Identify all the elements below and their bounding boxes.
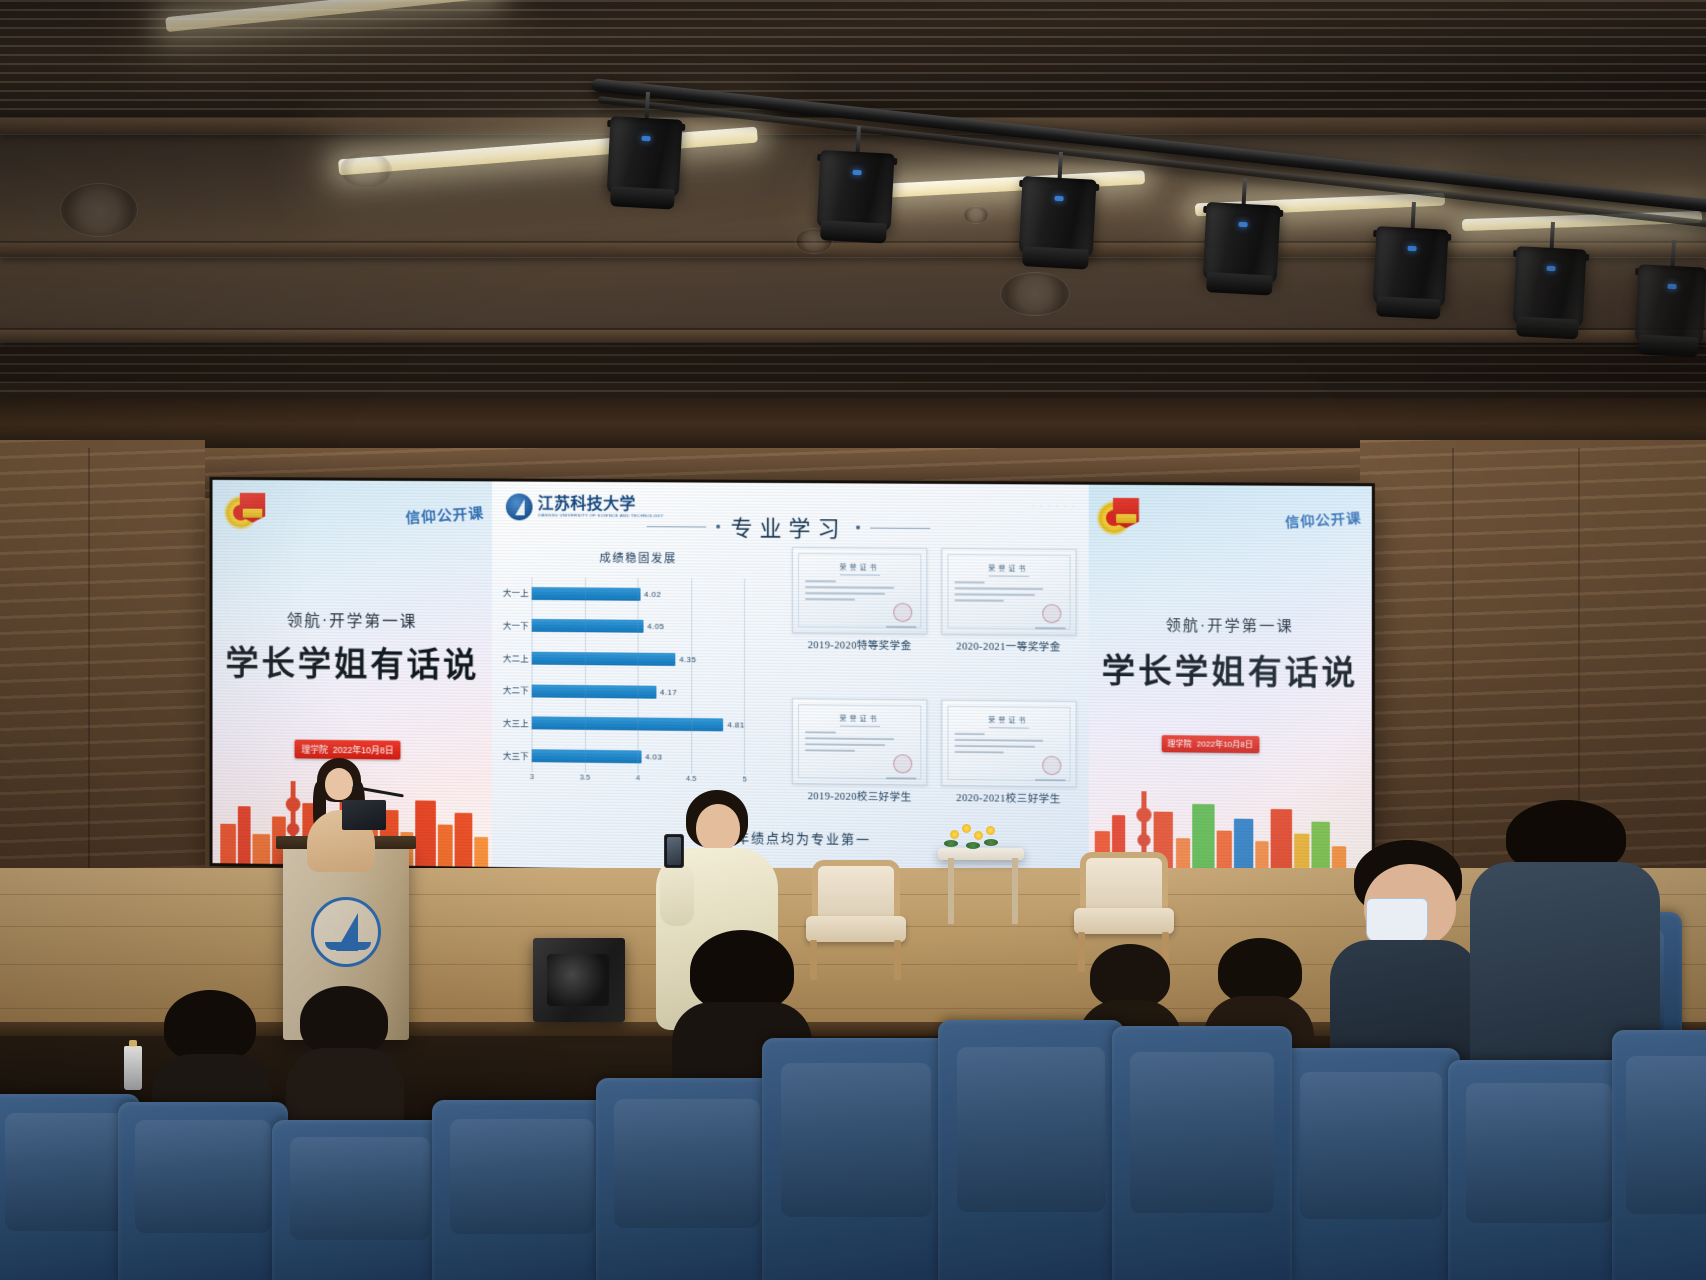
- right-panel-date-badge: 理学院 2022年10月8日: [1161, 735, 1259, 753]
- chart-plot-area: 大一上4.02大一下4.05大二上4.35大二下4.17大三上4.81大三下4.…: [532, 577, 745, 774]
- spotlight-indicator-led: [852, 170, 861, 175]
- chart-x-axis: 33.544.55: [532, 772, 745, 788]
- ceiling-vent-3: [1000, 272, 1070, 316]
- audience-seat[interactable]: [1112, 1026, 1292, 1280]
- spotlight-body: [1203, 202, 1281, 284]
- wall-left-section: [0, 440, 205, 880]
- chart-category-label: 大一下: [498, 620, 529, 632]
- audience-hair: [164, 990, 256, 1062]
- audience-seat[interactable]: [1448, 1060, 1630, 1280]
- spotlight-body: [607, 116, 683, 198]
- certificate-seal: [1042, 604, 1061, 623]
- audience-seat[interactable]: [1282, 1048, 1460, 1280]
- certificate-caption: 2019-2020校三好学生: [808, 788, 912, 804]
- audience-hair: [300, 986, 388, 1056]
- side-table-leg: [948, 858, 954, 924]
- spotlight-indicator-led: [1407, 246, 1416, 251]
- certificate-heading: 荣誉证书: [988, 715, 1028, 725]
- presenter-laptop: [342, 800, 386, 830]
- certificate-body-lines: [954, 581, 1063, 606]
- slide-section-title: 专业学习: [731, 511, 847, 544]
- certificate-seal: [893, 754, 912, 773]
- certificate-heading: 荣誉证书: [840, 714, 880, 724]
- chart-gridline-0: [532, 577, 533, 772]
- armchair-left[interactable]: [806, 860, 910, 982]
- chart-gridline-1: [585, 577, 586, 772]
- university-sail-emblem-icon: [311, 897, 381, 967]
- spotlight-lens: [1638, 334, 1699, 357]
- audience-seat[interactable]: [118, 1102, 288, 1280]
- certificate-gallery: 荣誉证书2019-2020特等奖学金荣誉证书2020-2021一等奖学金荣誉证书…: [788, 545, 1088, 849]
- ceiling-vent-1: [60, 183, 138, 237]
- title-rule-right: [871, 527, 931, 528]
- title-dot-left: [717, 525, 721, 529]
- certificate-body-lines: [954, 733, 1063, 758]
- chart-value-label: 4.81: [727, 721, 744, 730]
- certificate-body-lines: [805, 580, 913, 605]
- spotlight-indicator-led: [1667, 284, 1676, 289]
- certificate-item: 荣誉证书2019-2020校三好学生: [792, 698, 926, 847]
- flower-arrangement: [944, 822, 1000, 852]
- chart-value-label: 4.02: [644, 590, 661, 599]
- wall-groove-2: [1452, 448, 1454, 878]
- audience-member-masked: [1330, 840, 1480, 1070]
- ceiling-beam-2: [0, 243, 1706, 257]
- slide-corner-dots: · · · · · ·: [1032, 503, 1076, 509]
- spotlight-lens: [820, 220, 886, 243]
- audience-seat[interactable]: [432, 1100, 612, 1280]
- chart-category-label: 大三上: [498, 717, 529, 729]
- spotlight-lens: [1376, 296, 1440, 319]
- smartphone-icon[interactable]: [664, 834, 684, 868]
- certificate-photo: 荣誉证书: [792, 547, 926, 634]
- led-video-wall[interactable]: 信仰公开课 领航·开学第一课 学长学姐有话说 理学院 2022年10月8日: [213, 480, 1372, 879]
- left-panel-org: 理学院: [301, 743, 327, 756]
- certificate-heading: 荣誉证书: [988, 563, 1028, 573]
- certificate-signature-line: [1035, 779, 1065, 781]
- certificate-item: 荣誉证书2019-2020特等奖学金: [792, 547, 926, 695]
- certificate-item: 荣誉证书2020-2021一等奖学金: [941, 548, 1076, 697]
- title-dot-right: [857, 525, 861, 529]
- chart-x-tick-label: 3: [530, 772, 534, 781]
- chart-x-tick-label: 4.5: [686, 774, 696, 783]
- spotlight-lens: [610, 186, 674, 209]
- armchair-backrest: [812, 860, 900, 922]
- chart-category-label: 大三下: [498, 749, 529, 761]
- certificate-seal: [1042, 756, 1061, 775]
- attendee-arm: [660, 864, 694, 926]
- title-rule-left: [647, 526, 707, 527]
- chart-bar: [532, 587, 640, 601]
- spotlight-lens: [1516, 316, 1579, 339]
- presentation-slide[interactable]: 江苏科技大学 JIANGSU UNIVERSITY OF SCIENCE AND…: [492, 481, 1088, 875]
- screen-right-title-panel: 信仰公开课 领航·开学第一课 学长学姐有话说 理学院 2022年10月8日: [1088, 485, 1371, 879]
- right-panel-subtitle: 领航·开学第一课: [1088, 613, 1371, 637]
- left-panel-main-title: 学长学姐有话说: [213, 636, 493, 687]
- youth-league-emblem-icon: [226, 490, 267, 532]
- left-panel-date: 2022年10月8日: [333, 743, 394, 757]
- certificate-body-lines: [805, 731, 913, 756]
- stage-monitor-speaker: [533, 938, 625, 1022]
- audience-hair: [1090, 944, 1170, 1008]
- attendee-head: [696, 804, 740, 852]
- emblem-banner: [243, 509, 263, 518]
- led-wall-content: 信仰公开课 领航·开学第一课 学长学姐有话说 理学院 2022年10月8日: [213, 480, 1372, 879]
- spotlight-indicator-led: [1238, 222, 1247, 227]
- spotlight-body: [1019, 176, 1097, 258]
- scene-root: 信仰公开课 领航·开学第一课 学长学姐有话说 理学院 2022年10月8日: [0, 0, 1706, 1280]
- spotlight-body: [817, 150, 895, 232]
- chart-x-tick-label: 5: [742, 775, 746, 784]
- audience-seat[interactable]: [596, 1078, 778, 1280]
- certificate-caption: 2020-2021校三好学生: [956, 790, 1061, 806]
- audience-seat[interactable]: [1612, 1030, 1706, 1280]
- certificate-photo: 荣誉证书: [941, 548, 1076, 635]
- right-panel-date: 2022年10月8日: [1197, 738, 1253, 750]
- chart-value-label: 4.17: [660, 688, 677, 697]
- slide-body: 成绩稳固发展 大一上4.02大一下4.05大二上4.35大二下4.17大三上4.…: [492, 543, 1088, 849]
- audience-hair: [690, 930, 794, 1012]
- spotlight-lens: [1022, 246, 1088, 269]
- speaker-head: [325, 768, 353, 800]
- chart-bar: [532, 749, 641, 763]
- chart-bar: [532, 619, 643, 633]
- water-bottle: [124, 1046, 142, 1090]
- armchair-seat: [1074, 908, 1174, 934]
- certificate-photo: 荣誉证书: [941, 700, 1076, 788]
- certificate-photo: 荣誉证书: [792, 698, 926, 786]
- spotlight-indicator-led: [641, 136, 650, 141]
- chart-x-tick-label: 4: [636, 773, 640, 782]
- chart-category-label: 大二下: [498, 684, 529, 696]
- chart-bar: [532, 717, 724, 732]
- audience-hair: [1218, 938, 1302, 1004]
- left-panel-subtitle: 领航·开学第一课: [213, 606, 493, 632]
- slide-section-header: 专业学习: [492, 509, 1088, 545]
- audience-seat[interactable]: [762, 1038, 950, 1280]
- certificate-seal: [893, 603, 912, 622]
- left-panel-brush-text: 信仰公开课: [405, 502, 485, 528]
- ceiling-vent-2: [340, 152, 392, 188]
- chart-category-label: 大一上: [498, 587, 529, 599]
- chart-gridline-4: [745, 579, 746, 775]
- audience-seat[interactable]: [938, 1020, 1124, 1280]
- chart-gridline-2: [638, 578, 639, 773]
- spotlight-body: [1513, 246, 1587, 328]
- armchair-backrest: [1080, 852, 1168, 914]
- certificate-signature-line: [886, 626, 916, 628]
- chart-x-tick-label: 3.5: [580, 773, 590, 782]
- face-mask: [1366, 898, 1428, 942]
- certificate-signature-line: [886, 777, 916, 779]
- certificate-signature-line: [1035, 627, 1065, 629]
- audience-seat[interactable]: [272, 1120, 448, 1280]
- certificate-caption: 2019-2020特等奖学金: [808, 637, 912, 653]
- chart-value-label: 4.05: [647, 622, 664, 631]
- right-panel-brush-text: 信仰公开课: [1284, 508, 1362, 533]
- right-panel-org: 理学院: [1167, 738, 1191, 749]
- certificate-caption: 2020-2021一等奖学金: [956, 638, 1061, 654]
- audience-member: [286, 986, 404, 1136]
- armchair-leg: [894, 940, 901, 980]
- armchair-seat: [806, 916, 906, 942]
- ceiling-shadow-band: [0, 342, 1706, 382]
- chart-gridline-3: [691, 578, 692, 774]
- emblem-banner: [1116, 514, 1136, 523]
- spotlight-indicator-led: [1546, 266, 1555, 271]
- wall-groove-1: [88, 448, 90, 878]
- spotlight-lens: [1206, 272, 1272, 295]
- chart-value-label: 4.35: [679, 655, 696, 664]
- chart-category-label: 大二上: [498, 652, 529, 664]
- ceiling-panel-2: [0, 257, 1706, 329]
- spotlight-body: [1373, 226, 1449, 308]
- certificate-heading: 荣誉证书: [840, 562, 880, 572]
- spotlight-body: [1635, 264, 1706, 345]
- chart-bar: [532, 652, 675, 666]
- side-table-leg: [1012, 858, 1018, 924]
- right-panel-main-title: 学长学姐有话说: [1088, 644, 1371, 695]
- ceiling-sprinkler: [963, 206, 989, 224]
- chart-title: 成绩稳固发展: [498, 549, 778, 567]
- ceiling-beam-3: [0, 330, 1706, 342]
- chart-value-label: 4.03: [645, 753, 662, 762]
- youth-league-emblem-icon: [1098, 495, 1141, 538]
- spotlight-indicator-led: [1054, 196, 1063, 201]
